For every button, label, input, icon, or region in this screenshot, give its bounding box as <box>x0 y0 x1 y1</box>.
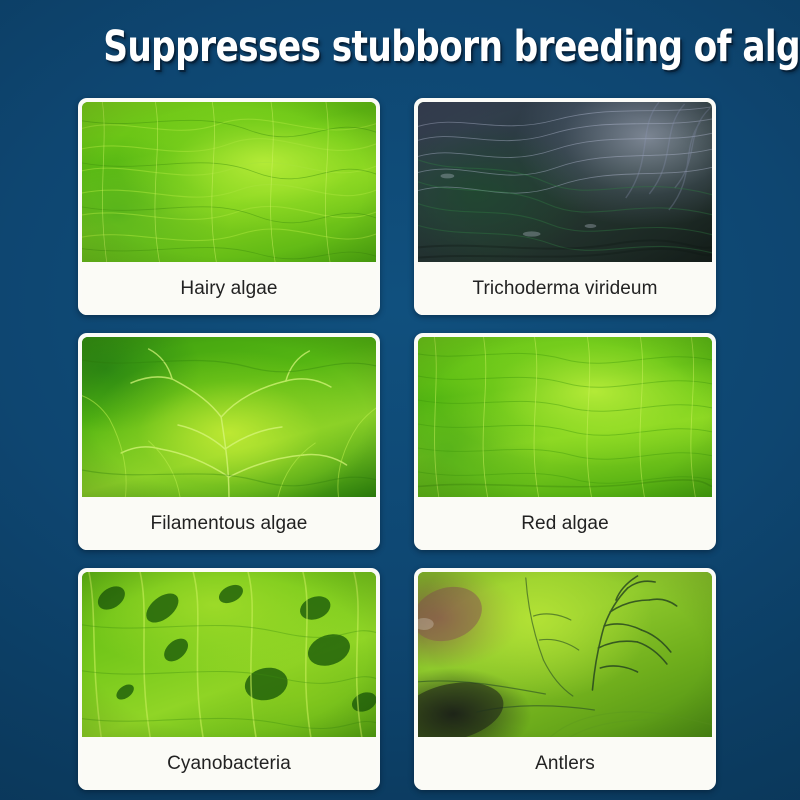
algae-photo-filamentous-algae <box>82 337 376 497</box>
algae-label: Antlers <box>535 753 595 775</box>
algae-label: Trichoderma virideum <box>472 278 657 300</box>
red-algae-crinkle-icon <box>418 337 712 497</box>
hairy-algae-strands-icon <box>82 102 376 262</box>
filamentous-branches-icon <box>82 337 376 497</box>
algae-photo-cyanobacteria <box>82 572 376 737</box>
algae-card-antlers[interactable]: Antlers <box>414 568 716 790</box>
title-bar: Suppresses stubborn breeding of algae <box>0 18 800 76</box>
algae-card-red-algae[interactable]: Red algae <box>414 333 716 550</box>
page-title: Suppresses stubborn breeding of algae <box>103 24 697 70</box>
algae-photo-trichoderma-virideum <box>418 102 712 262</box>
algae-card-filamentous-algae[interactable]: Filamentous algae <box>78 333 380 550</box>
algae-caption-cyanobacteria: Cyanobacteria <box>82 737 376 790</box>
algae-caption-filamentous-algae: Filamentous algae <box>82 497 376 550</box>
algae-caption-hairy-algae: Hairy algae <box>82 262 376 315</box>
algae-label: Filamentous algae <box>151 513 308 535</box>
algae-card-trichoderma-virideum[interactable]: Trichoderma virideum <box>414 98 716 315</box>
algae-label: Red algae <box>521 513 609 535</box>
algae-caption-antlers: Antlers <box>418 737 712 790</box>
algae-photo-red-algae <box>418 337 712 497</box>
algae-caption-red-algae: Red algae <box>418 497 712 550</box>
algae-card-cyanobacteria[interactable]: Cyanobacteria <box>78 568 380 790</box>
algae-poster: Suppresses stubborn breeding of algae <box>0 0 800 800</box>
algae-card-grid: Hairy algae <box>78 98 716 788</box>
algae-label: Cyanobacteria <box>167 753 291 775</box>
cyanobacteria-blotches-icon <box>82 572 376 737</box>
algae-card-hairy-algae[interactable]: Hairy algae <box>78 98 380 315</box>
antler-algae-icon <box>418 572 712 737</box>
algae-photo-antlers <box>418 572 712 737</box>
trichoderma-strands-icon <box>418 102 712 262</box>
algae-caption-trichoderma-virideum: Trichoderma virideum <box>418 262 712 315</box>
algae-photo-hairy-algae <box>82 102 376 262</box>
algae-label: Hairy algae <box>180 278 277 300</box>
